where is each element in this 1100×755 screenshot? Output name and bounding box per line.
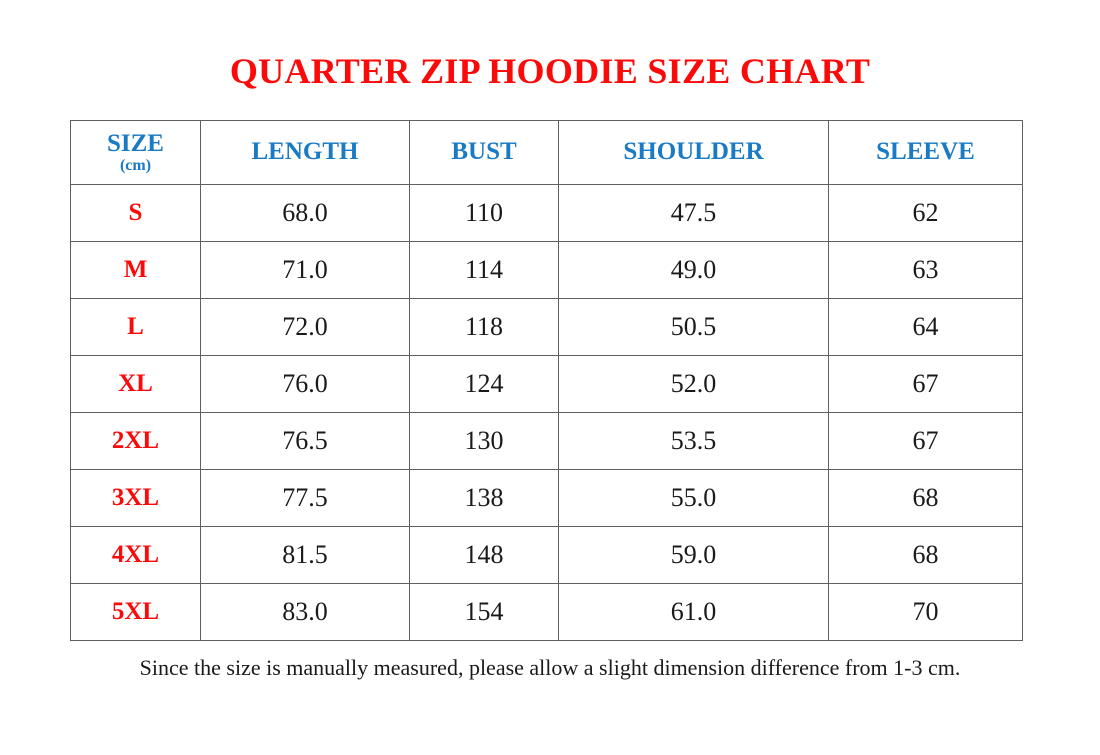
cell-bust: 110 <box>410 185 559 242</box>
cell-sleeve: 62 <box>829 185 1023 242</box>
cell-length: 71.0 <box>201 242 410 299</box>
cell-sleeve: 64 <box>829 299 1023 356</box>
size-table-container: SIZE (cm) LENGTH BUST SHOULDER SLEEVE S … <box>70 120 1022 641</box>
table-body: S 68.0 110 47.5 62 M 71.0 114 49.0 63 L … <box>71 185 1023 641</box>
cell-sleeve: 68 <box>829 527 1023 584</box>
size-chart-table: SIZE (cm) LENGTH BUST SHOULDER SLEEVE S … <box>70 120 1023 641</box>
cell-length: 77.5 <box>201 470 410 527</box>
measurement-disclaimer: Since the size is manually measured, ple… <box>0 655 1100 681</box>
cell-shoulder: 59.0 <box>559 527 829 584</box>
cell-length: 76.0 <box>201 356 410 413</box>
cell-sleeve: 68 <box>829 470 1023 527</box>
table-row: XL 76.0 124 52.0 67 <box>71 356 1023 413</box>
cell-size: M <box>71 242 201 299</box>
cell-size: XL <box>71 356 201 413</box>
cell-bust: 130 <box>410 413 559 470</box>
cell-size: 2XL <box>71 413 201 470</box>
cell-size: L <box>71 299 201 356</box>
cell-shoulder: 55.0 <box>559 470 829 527</box>
cell-shoulder: 50.5 <box>559 299 829 356</box>
cell-shoulder: 52.0 <box>559 356 829 413</box>
cell-bust: 148 <box>410 527 559 584</box>
column-header-bust: BUST <box>410 121 559 185</box>
cell-length: 72.0 <box>201 299 410 356</box>
table-row: 3XL 77.5 138 55.0 68 <box>71 470 1023 527</box>
cell-bust: 138 <box>410 470 559 527</box>
cell-sleeve: 63 <box>829 242 1023 299</box>
table-row: 5XL 83.0 154 61.0 70 <box>71 584 1023 641</box>
size-chart-page: QUARTER ZIP HOODIE SIZE CHART SIZE (cm) … <box>0 0 1100 755</box>
cell-bust: 114 <box>410 242 559 299</box>
cell-sleeve: 67 <box>829 413 1023 470</box>
column-header-size-unit: (cm) <box>71 158 200 175</box>
cell-sleeve: 67 <box>829 356 1023 413</box>
column-header-size-label: SIZE <box>71 130 200 158</box>
cell-size: S <box>71 185 201 242</box>
cell-shoulder: 53.5 <box>559 413 829 470</box>
column-header-shoulder: SHOULDER <box>559 121 829 185</box>
table-row: 2XL 76.5 130 53.5 67 <box>71 413 1023 470</box>
cell-bust: 124 <box>410 356 559 413</box>
header-row: SIZE (cm) LENGTH BUST SHOULDER SLEEVE <box>71 121 1023 185</box>
cell-length: 76.5 <box>201 413 410 470</box>
page-title: QUARTER ZIP HOODIE SIZE CHART <box>0 50 1100 92</box>
cell-bust: 154 <box>410 584 559 641</box>
cell-sleeve: 70 <box>829 584 1023 641</box>
table-row: 4XL 81.5 148 59.0 68 <box>71 527 1023 584</box>
table-row: M 71.0 114 49.0 63 <box>71 242 1023 299</box>
cell-shoulder: 47.5 <box>559 185 829 242</box>
cell-length: 68.0 <box>201 185 410 242</box>
cell-length: 81.5 <box>201 527 410 584</box>
cell-size: 5XL <box>71 584 201 641</box>
cell-size: 4XL <box>71 527 201 584</box>
column-header-length: LENGTH <box>201 121 410 185</box>
column-header-sleeve: SLEEVE <box>829 121 1023 185</box>
table-row: S 68.0 110 47.5 62 <box>71 185 1023 242</box>
column-header-size: SIZE (cm) <box>71 121 201 185</box>
table-row: L 72.0 118 50.5 64 <box>71 299 1023 356</box>
cell-shoulder: 49.0 <box>559 242 829 299</box>
cell-size: 3XL <box>71 470 201 527</box>
cell-length: 83.0 <box>201 584 410 641</box>
cell-bust: 118 <box>410 299 559 356</box>
cell-shoulder: 61.0 <box>559 584 829 641</box>
table-header: SIZE (cm) LENGTH BUST SHOULDER SLEEVE <box>71 121 1023 185</box>
